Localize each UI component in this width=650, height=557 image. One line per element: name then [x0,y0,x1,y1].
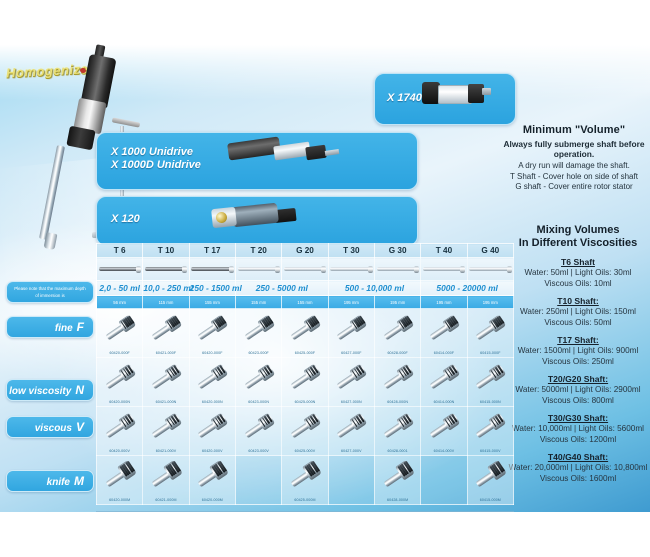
row-label-low-viscosity[interactable]: low viscosityN [6,379,94,401]
minimum-volume-line-2: T Shaft - Cover hole on side of shaft [500,172,648,183]
shaft-rod-icon [284,267,326,271]
product-cell-knife[interactable]: 60428-000M [374,456,420,505]
part-number: 60415-000M [468,498,513,502]
product-cell-empty [235,456,281,505]
part-number: 60428-0001 [375,449,420,453]
row-label-fine[interactable]: fineF [6,316,94,338]
product-cell-viscous[interactable]: 60421-000V [143,407,189,456]
shaft-photo-icon [98,356,141,399]
product-cell-viscous[interactable]: 60420-000V [97,407,143,456]
product-cell-low-viscosity[interactable]: 60425-000N [282,358,328,407]
shaft-photo-icon [237,405,280,448]
rotor-stator-head-icon [136,266,141,273]
product-cell-viscous[interactable]: 60427-000V [328,407,374,456]
shaft-photo-icon [469,405,512,448]
shaft-preview-cell [421,258,467,281]
product-cell-knife[interactable]: 60415-000M [467,456,513,505]
product-cell-low-viscosity[interactable]: 60428-000N [374,358,420,407]
x1740-port-icon [482,88,491,95]
shaft-name: T10 Shaft: [506,296,650,307]
product-cell-knife[interactable]: 60420-000M [189,456,235,505]
shaft-photo-icon [144,307,187,350]
product-cell-viscous[interactable]: 60420-000V [189,407,235,456]
minimum-volume-line-1: A dry run will damage the shaft. [500,161,648,172]
shaft-selection-table: T 6T 10T 17T 20G 20T 30G 30T 40G 40 2,0 … [96,243,514,505]
shaft-photo-icon [191,405,234,448]
product-cell-low-viscosity[interactable]: 60420-000N [97,358,143,407]
table-row: 60420-000M60421-000M60420-000M60425-000M… [97,456,514,505]
part-number: 60421-000F [143,351,188,355]
shaft-photo-icon [237,356,280,399]
shaft-length-cell: 195 mm [467,296,513,309]
part-number: 60420-000V [97,449,142,453]
volume-range-cell: 250 - 5000 ml [235,281,328,296]
column-header-g20: G 20 [282,244,328,258]
part-number: 60420-000F [97,351,142,355]
mixing-shaft-entry: T30/G30 Shaft: Water: 10,000ml | Light O… [506,413,650,445]
product-cell-low-viscosity[interactable]: 60421-000N [143,358,189,407]
shaft-rod-icon [238,267,280,271]
product-cell-fine[interactable]: 60420-000F [189,309,235,358]
product-cell-empty [421,456,467,505]
part-number: 60414-000N [421,400,466,404]
shaft-length-cell: 115 mm [143,296,189,309]
volume-range-cell: 5000 - 20000 ml [421,281,514,296]
shaft-photo-icon [330,405,373,448]
part-number: 60428-000M [375,498,420,502]
product-cell-fine[interactable]: 60420-000F [97,309,143,358]
product-cell-knife[interactable]: 60425-000M [282,456,328,505]
shaft-volume-line-1: Water: 10,000ml | Light Oils: 5600ml [506,424,650,435]
part-number: 60425-000N [282,400,327,404]
shaft-length-row: 56 mm115 mm155 mm155 mm155 mm195 mm195 m… [97,296,514,309]
column-header-t30: T 30 [328,244,374,258]
shaft-volume-line-1: Water: 50ml | Light Oils: 30ml [506,268,650,279]
product-cell-low-viscosity[interactable]: 60414-000N [421,358,467,407]
product-label-x120: X 120 [111,213,140,226]
column-header-g30: G 30 [374,244,420,258]
minimum-volume-title: Minimum "Volume" [500,125,648,136]
product-cell-fine[interactable]: 60414-000F [421,309,467,358]
rotor-stator-head-icon [321,266,326,273]
shaft-photo-icon [98,454,141,497]
column-header-t20: T 20 [235,244,281,258]
product-cell-fine[interactable]: 60427-000F [328,309,374,358]
volume-range-cell: 2,0 - 50 ml [97,281,143,296]
product-cell-viscous[interactable]: 60425-000V [282,407,328,456]
mixing-volumes-title-line-1: Mixing Volumes [506,224,650,237]
product-cell-low-viscosity[interactable]: 60427-000N [328,358,374,407]
shaft-preview-cell [467,258,513,281]
shaft-preview-cell [374,258,420,281]
part-number: 60420-000M [97,498,142,502]
product-cell-low-viscosity[interactable]: 60423-000N [235,358,281,407]
shaft-volume-line-2: Viscous Oils: 1600ml [506,474,650,485]
rotor-stator-head-icon [460,266,465,273]
row-label-code: V [76,420,84,434]
product-cell-knife[interactable]: 60420-000M [97,456,143,505]
product-cell-fine[interactable]: 60415-000F [467,309,513,358]
row-label-code: N [75,383,84,397]
shaft-photo-icon [469,356,512,399]
volume-range-row: 2,0 - 50 ml10,0 - 250 ml250 - 1500 ml250… [97,281,514,296]
volume-range-cell: 10,0 - 250 ml [143,281,189,296]
shaft-preview-cell [235,258,281,281]
shaft-photo-icon [191,356,234,399]
shaft-preview-row [97,258,514,281]
part-number: 60420-000N [190,400,235,404]
mixing-shaft-entry: T10 Shaft: Water: 250ml | Light Oils: 15… [506,296,650,328]
mixing-shaft-entry: T17 Shaft: Water: 1500ml | Light Oils: 9… [506,335,650,367]
shaft-name: T17 Shaft: [506,335,650,346]
part-number: 60421-000N [143,400,188,404]
product-cell-fine[interactable]: 60428-000F [374,309,420,358]
product-cell-knife[interactable]: 60421-000M [143,456,189,505]
shaft-photo-icon [283,356,326,399]
shaft-photo-icon [469,307,512,350]
mixing-shaft-entry: T40/G40 Shaft: Water: 20,000ml | Light O… [506,452,650,484]
product-label-x1000: X 1000 Unidrive X 1000D Unidrive [111,146,201,172]
shaft-rod-icon [145,267,187,271]
shaft-photo-icon [422,405,465,448]
mixing-volumes-panel: Mixing Volumes In Different Viscosities … [506,224,650,484]
table-row: 60420-000N60421-000N60420-000N60423-000N… [97,358,514,407]
shaft-volume-line-2: Viscous Oils: 10ml [506,279,650,290]
volume-range-cell: 250 - 1500 ml [189,281,235,296]
part-number: 60415-000N [468,400,513,404]
part-number: 60420-000F [190,351,235,355]
shaft-length-cell: 155 mm [282,296,328,309]
shaft-photo-icon [376,356,419,399]
product-cell-fine[interactable]: 60425-000F [282,309,328,358]
shaft-volume-line-2: Viscous Oils: 50ml [506,318,650,329]
part-number: 60415-000V [468,449,513,453]
shaft-photo-icon [376,307,419,350]
shaft-preview-cell [282,258,328,281]
column-header-t40: T 40 [421,244,467,258]
shaft-preview-cell [189,258,235,281]
shaft-photo-icon [191,307,234,350]
row-label-text: viscousV [35,423,93,434]
shaft-photo-icon [422,356,465,399]
product-cell-viscous[interactable]: 60423-000V [235,407,281,456]
shaft-photo-icon [330,307,373,350]
shaft-volume-line-2: Viscous Oils: 250ml [506,357,650,368]
row-label-text: fineF [55,323,93,334]
part-number: 60427-000V [329,449,374,453]
shaft-rod-icon [191,267,233,271]
part-number: 60421-000M [143,498,188,502]
mixing-shaft-entry: T20/G20 Shaft: Water: 5000ml | Light Oil… [506,374,650,406]
product-cell-fine[interactable]: 60421-000F [143,309,189,358]
shaft-rod-icon [377,267,419,271]
row-label-text: low viscosityN [9,386,93,397]
shaft-rod-icon [469,267,511,271]
shaft-length-cell: 195 mm [374,296,420,309]
table-row: 60420-000V60421-000V60420-000V60423-000V… [97,407,514,456]
part-number: 60425-000V [282,449,327,453]
part-number: 60428-000F [375,351,420,355]
row-label-viscous[interactable]: viscousV [6,416,94,438]
row-label-text: knifeM [47,477,93,488]
shaft-photo-icon [283,405,326,448]
rotor-stator-head-icon [229,266,234,273]
shaft-volume-line-2: Viscous Oils: 800ml [506,396,650,407]
x1740-chamber-icon [438,85,472,104]
shaft-rod-icon [330,267,372,271]
shaft-volume-line-1: Water: 250ml | Light Oils: 150ml [506,307,650,318]
part-number: 60420-000V [190,449,235,453]
part-number: 60423-000N [236,400,281,404]
product-cell-viscous[interactable]: 60428-0001 [374,407,420,456]
rotor-stator-head-icon [368,266,373,273]
part-number: 60423-000F [236,351,281,355]
immersion-depth-note: Please note that the maximum depth of im… [6,281,94,303]
shaft-length-cell: 155 mm [235,296,281,309]
part-number: 60427-000N [329,400,374,404]
shaft-name: T30/G30 Shaft: [506,413,650,424]
shaft-photo-icon [422,307,465,350]
shaft-photo-icon [376,405,419,448]
shaft-photo-icon [376,454,419,497]
column-header-g40: G 40 [467,244,513,258]
part-number: 60414-000V [421,449,466,453]
rotor-stator-head-icon [507,266,512,273]
shaft-name: T20/G20 Shaft: [506,374,650,385]
part-number: 60425-000M [282,498,327,502]
minimum-volume-subtitle: Always fully submerge shaft before opera… [500,139,648,159]
shaft-length-cell: 56 mm [97,296,143,309]
part-number: 60421-000V [143,449,188,453]
volume-range-cell: 500 - 10,000 ml [328,281,421,296]
product-label-x1740: X 1740 [387,92,422,105]
shaft-preview-cell [143,258,189,281]
part-number: 60428-000N [375,400,420,404]
shaft-photo-icon [144,405,187,448]
product-cell-low-viscosity[interactable]: 60415-000N [467,358,513,407]
part-number: 60415-000F [468,351,513,355]
product-cell-fine[interactable]: 60423-000F [235,309,281,358]
product-cell-viscous[interactable]: 60415-000V [467,407,513,456]
shaft-photo-icon [98,405,141,448]
shaft-rod-icon [423,267,465,271]
table-header-row: T 6T 10T 17T 20G 20T 30G 30T 40G 40 [97,244,514,258]
part-number: 60420-000N [97,400,142,404]
shaft-volume-line-1: Water: 20,000ml | Light Oils: 10,800ml [506,463,650,474]
mixing-shaft-entry: T6 Shaft Water: 50ml | Light Oils: 30ml … [506,257,650,289]
shaft-photo-icon [469,454,512,497]
shaft-photo-icon [144,454,187,497]
row-label-knife[interactable]: knifeM [6,470,94,492]
shaft-photo-icon [144,356,187,399]
product-cell-viscous[interactable]: 60414-000V [421,407,467,456]
x1000-head-icon [305,145,327,161]
shaft-length-cell: 155 mm [189,296,235,309]
part-number: 60425-000F [282,351,327,355]
shaft-volume-line-1: Water: 1500ml | Light Oils: 900ml [506,346,650,357]
shaft-photo-icon [237,307,280,350]
table-row: 60420-000F60421-000F60420-000F60423-000F… [97,309,514,358]
homogenizer-poster: Homogenizers X 1000 Unidrive X 1000D Uni… [0,0,650,557]
shaft-volume-line-1: Water: 5000ml | Light Oils: 2900ml [506,385,650,396]
minimum-volume-line-3: G shaft - Cover entire rotor stator [500,182,648,193]
shaft-photo-icon [283,307,326,350]
row-label-code: M [74,474,84,488]
column-header-t6: T 6 [97,244,143,258]
rotor-stator-head-icon [414,266,419,273]
shaft-preview-cell [328,258,374,281]
shaft-photo-icon [191,454,234,497]
shaft-length-cell: 195 mm [421,296,467,309]
shaft-photo-icon [283,454,326,497]
shaft-length-cell: 195 mm [328,296,374,309]
shaft-photo-icon [98,307,141,350]
part-number: 60427-000F [329,351,374,355]
rotor-stator-head-icon [275,266,280,273]
shaft-preview-cell [97,258,143,281]
rotor-stator-head-icon [182,266,187,273]
shaft-photo-icon [330,356,373,399]
part-number: 60414-000F [421,351,466,355]
shaft-rod-icon [99,267,141,271]
product-cell-low-viscosity[interactable]: 60420-000N [189,358,235,407]
part-number: 60423-000V [236,449,281,453]
shaft-volume-line-2: Viscous Oils: 1200ml [506,435,650,446]
part-number: 60420-000M [190,498,235,502]
column-header-t17: T 17 [189,244,235,258]
mixing-volumes-title-line-2: In Different Viscosities [506,237,650,250]
shaft-name: T6 Shaft [506,257,650,268]
row-label-code: F [77,320,84,334]
column-header-t10: T 10 [143,244,189,258]
shaft-name: T40/G40 Shaft: [506,452,650,463]
table-bottom-rule [96,511,514,512]
minimum-volume-callout: Minimum "Volume" Always fully submerge s… [500,125,648,193]
product-cell-empty [328,456,374,505]
